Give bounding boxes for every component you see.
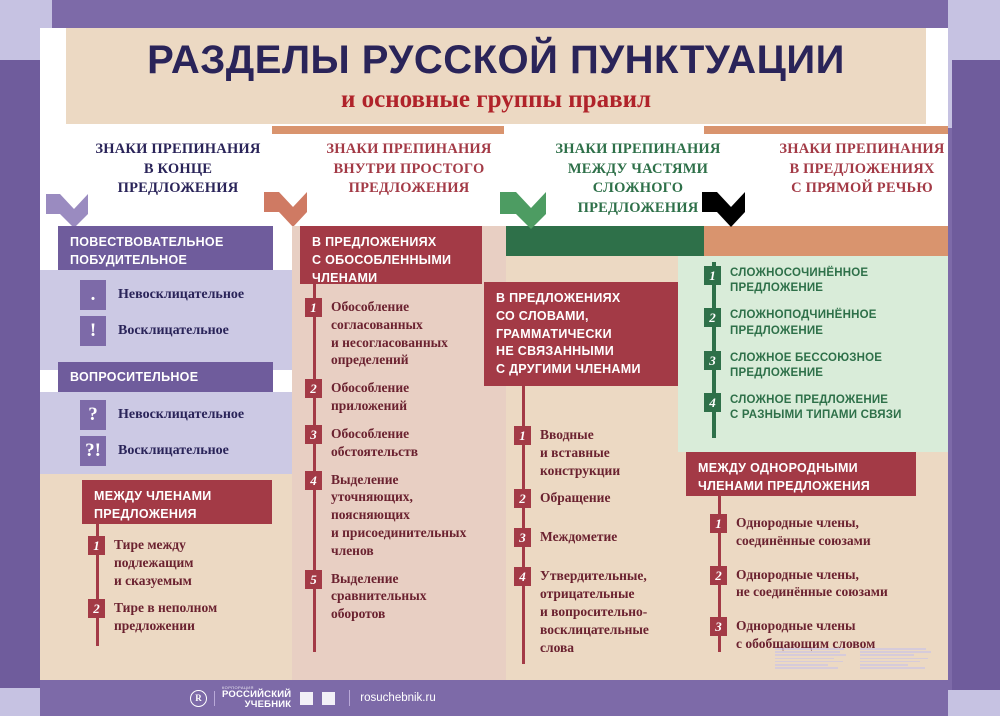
- col2-heading-line: ЗНАКИ ПРЕПИНАНИЯ: [298, 140, 520, 160]
- interrogative-head-text: ВОПРОСИТЕЛЬНОЕ: [58, 362, 273, 396]
- homogeneous-head-line: ЧЛЕНАМИ ПРЕДЛОЖЕНИЯ: [698, 478, 906, 496]
- list-item-label: Обособление приложений: [331, 379, 409, 415]
- list-item[interactable]: ?! Восклицательное: [80, 436, 292, 466]
- between-members-list: 1 Тире между подлежащим и сказуемым 2 Ти…: [88, 528, 288, 649]
- interrogative-head: ВОПРОСИТЕЛЬНОЕ: [58, 362, 273, 392]
- homogeneous-head-line: МЕЖДУ ОДНОРОДНЫМИ: [698, 460, 906, 478]
- list-item-label: СЛОЖНОСОЧИНЁННОЕ ПРЕДЛОЖЕНИЕ: [730, 266, 868, 296]
- col2-heading: ЗНАКИ ПРЕПИНАНИЯ ВНУТРИ ПРОСТОГО ПРЕДЛОЖ…: [298, 140, 520, 199]
- unconnected-words-head-text: В ПРЕДЛОЖЕНИЯХ СО СЛОВАМИ, ГРАММАТИЧЕСКИ…: [484, 282, 680, 388]
- list-item-label: Обособление обстоятельств: [331, 425, 418, 461]
- list-item[interactable]: 1 СЛОЖНОСОЧИНЁННОЕ ПРЕДЛОЖЕНИЕ: [704, 266, 942, 296]
- item-number: 2: [704, 308, 721, 327]
- list-item[interactable]: 1 Вводные и вставные конструкции: [514, 426, 698, 479]
- col4-heading: ЗНАКИ ПРЕПИНАНИЯ В ПРЕДЛОЖЕНИЯХ С ПРЯМОЙ…: [752, 140, 972, 199]
- list-item-label: Обособление согласованных и несогласован…: [331, 298, 448, 369]
- declarative-head-line: ПОВЕСТВОВАТЕЛЬНОЕ: [70, 234, 263, 252]
- list-item[interactable]: 2 Однородные члены, не соединённые союза…: [710, 566, 944, 602]
- publisher-logo[interactable]: R КОРПОРАЦИЯ РОССИЙСКИЙ УЧЕБНИК rosucheb…: [190, 686, 436, 710]
- item-number: 1: [88, 536, 105, 555]
- col4-heading-line: В ПРЕДЛОЖЕНИЯХ: [752, 160, 972, 180]
- item-number: 4: [305, 471, 322, 490]
- list-item[interactable]: 4 Выделение уточняющих, поясняющих и при…: [305, 471, 499, 560]
- list-item[interactable]: 2 Обособление приложений: [305, 379, 499, 415]
- list-item-label: Выделение сравнительных оборотов: [331, 570, 427, 623]
- unconnected-words-head-line: ГРАММАТИЧЕСКИ: [496, 326, 670, 344]
- between-members-head-text: МЕЖДУ ЧЛЕНАМИ ПРЕДЛОЖЕНИЯ: [82, 480, 272, 533]
- unconnected-words-head-line: В ПРЕДЛОЖЕНИЯХ: [496, 290, 670, 308]
- list-item-label: Восклицательное: [118, 443, 229, 459]
- chevron-down-right-salmon-2-icon: [700, 190, 750, 230]
- item-number: 1: [305, 298, 322, 317]
- complex-sentence-list: 1 СЛОЖНОСОЧИНЁННОЕ ПРЕДЛОЖЕНИЕ 2 СЛОЖНОП…: [704, 262, 948, 437]
- list-item-label: Восклицательное: [118, 323, 229, 339]
- deco-square: [948, 0, 1000, 60]
- list-item[interactable]: 3 Обособление обстоятельств: [305, 425, 499, 461]
- list-item-label: Однородные члены, не соединённые союзами: [736, 566, 888, 602]
- list-item-label: СЛОЖНОЕ ПРЕДЛОЖЕНИЕ С РАЗНЫМИ ТИПАМИ СВЯ…: [730, 393, 902, 423]
- list-item[interactable]: 2 СЛОЖНОПОДЧИНЁННОЕ ПРЕДЛОЖЕНИЕ: [704, 308, 942, 338]
- divider: [214, 691, 215, 706]
- item-number: 1: [710, 514, 727, 533]
- list-item[interactable]: 2 Обращение: [514, 489, 698, 508]
- list-item[interactable]: 1 Обособление согласованных и несогласов…: [305, 298, 499, 369]
- publisher-tagline: КОРПОРАЦИЯ: [222, 686, 291, 690]
- list-item-label: Тире между подлежащим и сказуемым: [114, 536, 193, 589]
- item-number: 2: [514, 489, 531, 508]
- column-headers: ЗНАКИ ПРЕПИНАНИЯ В КОНЦЕ ПРЕДЛОЖЕНИЯ ЗНА…: [40, 134, 948, 226]
- title-band: РАЗДЕЛЫ РУССКОЙ ПУНКТУАЦИИ и основные гр…: [66, 28, 926, 124]
- list-item[interactable]: 3 Междометие: [514, 528, 698, 547]
- list-item-label: Вводные и вставные конструкции: [540, 426, 620, 479]
- item-number: 2: [305, 379, 322, 398]
- website-link[interactable]: rosuchebnik.ru: [360, 692, 435, 704]
- list-item-label: Обращение: [540, 489, 610, 507]
- publisher-name: КОРПОРАЦИЯ РОССИЙСКИЙ УЧЕБНИК: [222, 686, 291, 710]
- col1-heading-line: В КОНЦЕ: [62, 160, 294, 180]
- fine-print-col: [775, 648, 850, 678]
- item-number: 1: [704, 266, 721, 285]
- punct-mark-question: ?: [80, 400, 106, 430]
- item-number: 4: [514, 567, 531, 586]
- chevron-down-right-purple-icon: [44, 192, 94, 230]
- unconnected-words-head: В ПРЕДЛОЖЕНИЯХ СО СЛОВАМИ, ГРАММАТИЧЕСКИ…: [484, 282, 680, 386]
- isolated-members-list: 1 Обособление согласованных и несогласов…: [305, 290, 505, 637]
- publisher-line2: УЧЕБНИК: [222, 700, 291, 710]
- between-members-head-line: МЕЖДУ ЧЛЕНАМИ: [94, 488, 262, 506]
- declarative-head: ПОВЕСТВОВАТЕЛЬНОЕ ПОБУДИТЕЛЬНОЕ: [58, 226, 273, 270]
- col2-heading-line: ВНУТРИ ПРОСТОГО: [298, 160, 520, 180]
- list-item-label: Тире в неполном предложении: [114, 599, 217, 635]
- list-item[interactable]: 2 Тире в неполном предложении: [88, 599, 282, 635]
- list-item[interactable]: ? Невосклицательное: [80, 400, 292, 430]
- punct-mark-period: .: [80, 280, 106, 310]
- homogeneous-list: 1 Однородные члены, соединённые союзами …: [710, 506, 950, 667]
- declarative-panel: . Невосклицательное ! Восклицательное: [40, 270, 292, 370]
- list-item[interactable]: . Невосклицательное: [80, 280, 292, 310]
- col2-heading-line: ПРЕДЛОЖЕНИЯ: [298, 179, 520, 199]
- between-members-head-line: ПРЕДЛОЖЕНИЯ: [94, 506, 262, 524]
- isolated-members-head-line: С ОБОСОБЛЕННЫМИ: [312, 252, 472, 270]
- list-item[interactable]: ! Восклицательное: [80, 316, 292, 346]
- unconnected-words-list: 1 Вводные и вставные конструкции 2 Обращ…: [514, 418, 704, 671]
- item-number: 4: [704, 393, 721, 412]
- isolated-members-head-text: В ПРЕДЛОЖЕНИЯХ С ОБОСОБЛЕННЫМИ ЧЛЕНАМИ: [300, 226, 482, 296]
- list-item-label: СЛОЖНОПОДЧИНЁННОЕ ПРЕДЛОЖЕНИЕ: [730, 308, 877, 338]
- partner-icon-1: [300, 692, 313, 705]
- col4-heading-line: ЗНАКИ ПРЕПИНАНИЯ: [752, 140, 972, 160]
- homogeneous-head: МЕЖДУ ОДНОРОДНЫМИ ЧЛЕНАМИ ПРЕДЛОЖЕНИЯ: [686, 452, 916, 496]
- interrogative-panel: ? Невосклицательное ?! Восклицательное: [40, 392, 292, 474]
- poster-subtitle: и основные группы правил: [341, 87, 651, 112]
- list-item[interactable]: 1 Однородные члены, соединённые союзами: [710, 514, 944, 550]
- chevron-down-right-salmon-icon: [262, 190, 312, 230]
- list-item-label: Выделение уточняющих, поясняющих и присо…: [331, 471, 466, 560]
- col1-heading-line: ЗНАКИ ПРЕПИНАНИЯ: [62, 140, 294, 160]
- poster: РАЗДЕЛЫ РУССКОЙ ПУНКТУАЦИИ и основные гр…: [0, 0, 1000, 716]
- isolated-members-head-line: В ПРЕДЛОЖЕНИЯХ: [312, 234, 472, 252]
- list-item-label: Междометие: [540, 528, 617, 546]
- punct-mark-question-exclamation: ?!: [80, 436, 106, 466]
- item-number: 3: [704, 351, 721, 370]
- list-item-label: Утвердительные, отрицательные и вопросит…: [540, 567, 649, 656]
- col1-heading: ЗНАКИ ПРЕПИНАНИЯ В КОНЦЕ ПРЕДЛОЖЕНИЯ: [62, 140, 294, 199]
- item-number: 3: [514, 528, 531, 547]
- col1-heading-line: ПРЕДЛОЖЕНИЯ: [62, 179, 294, 199]
- declarative-head-line: ПОБУДИТЕЛЬНОЕ: [70, 252, 263, 270]
- list-item-label: Невосклицательное: [118, 407, 244, 423]
- item-number: 2: [88, 599, 105, 618]
- list-item-label: Невосклицательное: [118, 287, 244, 303]
- item-number: 3: [305, 425, 322, 444]
- list-item[interactable]: 4 СЛОЖНОЕ ПРЕДЛОЖЕНИЕ С РАЗНЫМИ ТИПАМИ С…: [704, 393, 942, 423]
- punct-mark-exclamation: !: [80, 316, 106, 346]
- deco-square: [940, 690, 1000, 716]
- registered-mark-icon: R: [190, 690, 207, 707]
- col3-heading-line: МЕЖДУ ЧАСТЯМИ: [530, 160, 746, 180]
- footer: R КОРПОРАЦИЯ РОССИЙСКИЙ УЧЕБНИК rosucheb…: [40, 680, 948, 716]
- list-item[interactable]: 1 Тире между подлежащим и сказуемым: [88, 536, 282, 589]
- unconnected-words-head-line: СО СЛОВАМИ,: [496, 308, 670, 326]
- list-item[interactable]: 3 СЛОЖНОЕ БЕССОЮЗНОЕ ПРЕДЛОЖЕНИЕ: [704, 351, 942, 381]
- partner-icon-2: [322, 692, 335, 705]
- isolated-members-head: В ПРЕДЛОЖЕНИЯХ С ОБОСОБЛЕННЫМИ ЧЛЕНАМИ: [300, 226, 482, 284]
- poster-title: РАЗДЕЛЫ РУССКОЙ ПУНКТУАЦИИ: [147, 40, 845, 80]
- unconnected-words-head-line: С ДРУГИМИ ЧЛЕНАМИ: [496, 361, 670, 379]
- interrogative-head-line: ВОПРОСИТЕЛЬНОЕ: [70, 369, 263, 387]
- isolated-members-head-line: ЧЛЕНАМИ: [312, 270, 472, 288]
- item-number: 1: [514, 426, 531, 445]
- list-item-label: СЛОЖНОЕ БЕССОЮЗНОЕ ПРЕДЛОЖЕНИЕ: [730, 351, 882, 381]
- item-number: 2: [710, 566, 727, 585]
- col3-heading-line: ЗНАКИ ПРЕПИНАНИЯ: [530, 140, 746, 160]
- fine-print: [775, 648, 935, 678]
- divider: [349, 690, 350, 706]
- unconnected-words-head-line: НЕ СВЯЗАННЫМИ: [496, 343, 670, 361]
- list-item-label: Однородные члены, соединённые союзами: [736, 514, 871, 550]
- list-item[interactable]: 4 Утвердительные, отрицательные и вопрос…: [514, 567, 698, 656]
- between-members-head: МЕЖДУ ЧЛЕНАМИ ПРЕДЛОЖЕНИЯ: [82, 480, 272, 524]
- fine-print-col: [860, 648, 935, 678]
- item-number: 5: [305, 570, 322, 589]
- item-number: 3: [710, 617, 727, 636]
- col4-heading-line: С ПРЯМОЙ РЕЧЬЮ: [752, 179, 972, 199]
- list-item[interactable]: 5 Выделение сравнительных оборотов: [305, 570, 499, 623]
